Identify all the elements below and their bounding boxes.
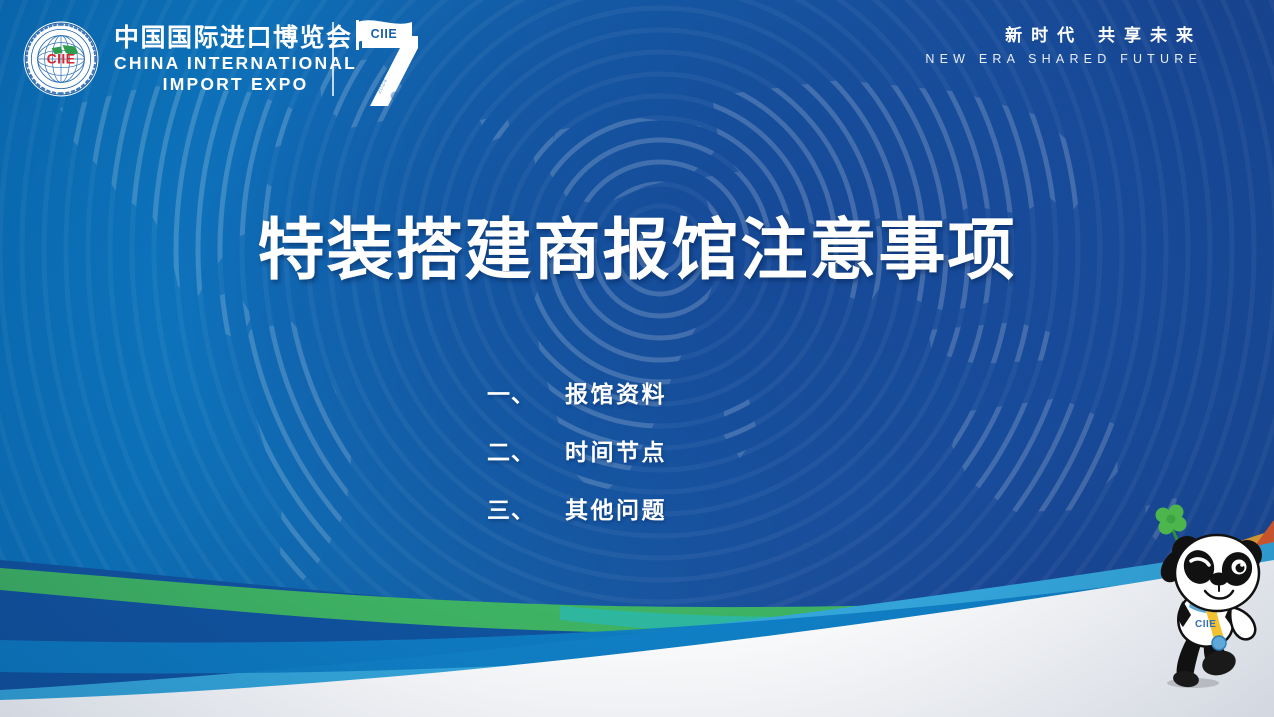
svg-text:CIIE: CIIE	[47, 51, 76, 67]
ciie-emblem-icon: CIIE	[22, 20, 100, 98]
agenda-item-2[interactable]: 二、 时间节点	[487, 433, 667, 467]
seventh-edition-logo: CIIE 2024	[348, 16, 434, 108]
seven-flag-text: CIIE	[371, 27, 398, 41]
ciie-logo: CIIE 中国国际进口博览会 CHINA INTERNATIONAL IMPOR…	[22, 20, 357, 98]
agenda-number: 二、	[487, 433, 565, 467]
logo-name-cn: 中国国际进口博览会	[114, 25, 357, 50]
agenda-label: 其他问题	[565, 491, 667, 525]
slogan-en: NEW ERA SHARED FUTURE	[925, 53, 1202, 66]
agenda-item-1[interactable]: 一、 报馆资料	[487, 375, 667, 409]
slide-header: CIIE 中国国际进口博览会 CHINA INTERNATIONAL IMPOR…	[0, 0, 1274, 120]
page-title: 特装搭建商报馆注意事项	[0, 196, 1274, 293]
agenda-list: 一、 报馆资料 二、 时间节点 三、 其他问题	[487, 375, 667, 549]
logo-name-en-line1: CHINA INTERNATIONAL	[114, 55, 357, 73]
panda-mascot-icon: CIIE	[1131, 503, 1274, 693]
agenda-number: 一、	[487, 375, 565, 409]
agenda-label: 报馆资料	[565, 375, 667, 409]
logo-divider	[332, 22, 334, 96]
logo-name-en-line2: IMPORT EXPO	[114, 76, 357, 94]
agenda-number: 三、	[487, 491, 565, 525]
agenda-label: 时间节点	[565, 433, 667, 467]
mascot-shirt-text: CIIE	[1195, 619, 1216, 630]
slogan-cn: 新时代 共享未来	[925, 28, 1202, 45]
slogan: 新时代 共享未来 NEW ERA SHARED FUTURE	[925, 28, 1202, 66]
agenda-item-3[interactable]: 三、 其他问题	[487, 491, 667, 525]
presentation-slide: CIIE 中国国际进口博览会 CHINA INTERNATIONAL IMPOR…	[0, 0, 1274, 717]
